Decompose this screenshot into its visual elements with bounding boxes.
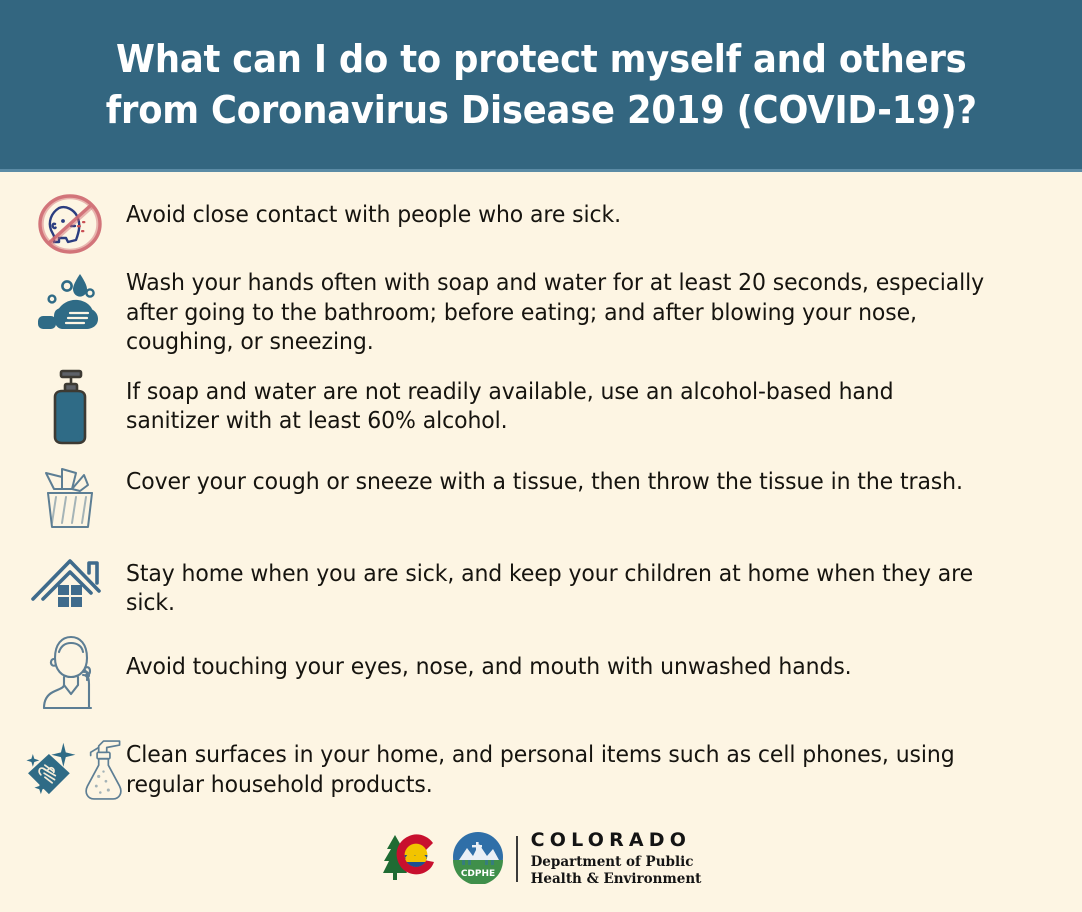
list-item: If soap and water are not readily availa… <box>14 365 1052 449</box>
agency-wordmark: COLORADO Department of Public Health & E… <box>531 831 702 886</box>
covid-prevention-poster: What can I do to protect myself and othe… <box>0 0 1082 910</box>
tip-text: Clean surfaces in your home, and persona… <box>126 726 992 799</box>
title-line-1: What can I do to protect myself and othe… <box>116 37 966 81</box>
list-item: Avoid close contact with people who are … <box>14 188 1052 258</box>
tips-section: Avoid close contact with people who are … <box>0 172 1082 816</box>
tip-text: Avoid close contact with people who are … <box>126 188 992 230</box>
list-item: Cover your cough or sneeze with a tissue… <box>14 457 1052 535</box>
wash-hands-icon <box>14 264 126 342</box>
tip-text: Avoid touching your eyes, nose, and mout… <box>126 628 992 682</box>
list-item: Avoid touching your eyes, nose, and mout… <box>14 628 1052 712</box>
house-icon <box>14 547 126 611</box>
tip-text: Wash your hands often with soap and wate… <box>126 264 992 357</box>
poster-header: What can I do to protect myself and othe… <box>0 0 1082 172</box>
list-item: Wash your hands often with soap and wate… <box>14 264 1052 357</box>
cdphe-seal-label: CDPHE <box>460 869 494 879</box>
hand-sanitizer-bottle-icon <box>14 365 126 449</box>
tip-text: If soap and water are not readily availa… <box>126 365 992 436</box>
colorado-c-logo <box>381 831 445 888</box>
cleaning-spray-icon <box>14 726 126 812</box>
wordmark-colorado: COLORADO <box>531 831 702 851</box>
footer-logo-area: CDPHE COLORADO Department of Public Heal… <box>0 816 1082 912</box>
page-title: What can I do to protect myself and othe… <box>78 34 1005 134</box>
prevention-tips-list: Avoid close contact with people who are … <box>14 188 1052 812</box>
person-touching-face-icon <box>14 628 126 712</box>
tip-text: Cover your cough or sneeze with a tissue… <box>126 457 992 497</box>
logo-group: CDPHE COLORADO Department of Public Heal… <box>381 830 702 889</box>
tissue-box-icon <box>14 457 126 535</box>
cdphe-seal-icon: CDPHE <box>451 830 505 889</box>
no-close-contact-icon <box>14 188 126 258</box>
department-line-2: Health & Environment <box>531 871 702 887</box>
logo-divider <box>516 836 518 882</box>
list-item: Stay home when you are sick, and keep yo… <box>14 547 1052 618</box>
department-line-1: Department of Public <box>531 854 694 870</box>
title-line-2: from Coronavirus Disease 2019 (COVID-19)… <box>105 88 976 132</box>
wordmark-department: Department of Public Health & Environmen… <box>531 854 702 886</box>
list-item: Clean surfaces in your home, and persona… <box>14 726 1052 812</box>
tip-text: Stay home when you are sick, and keep yo… <box>126 547 992 618</box>
